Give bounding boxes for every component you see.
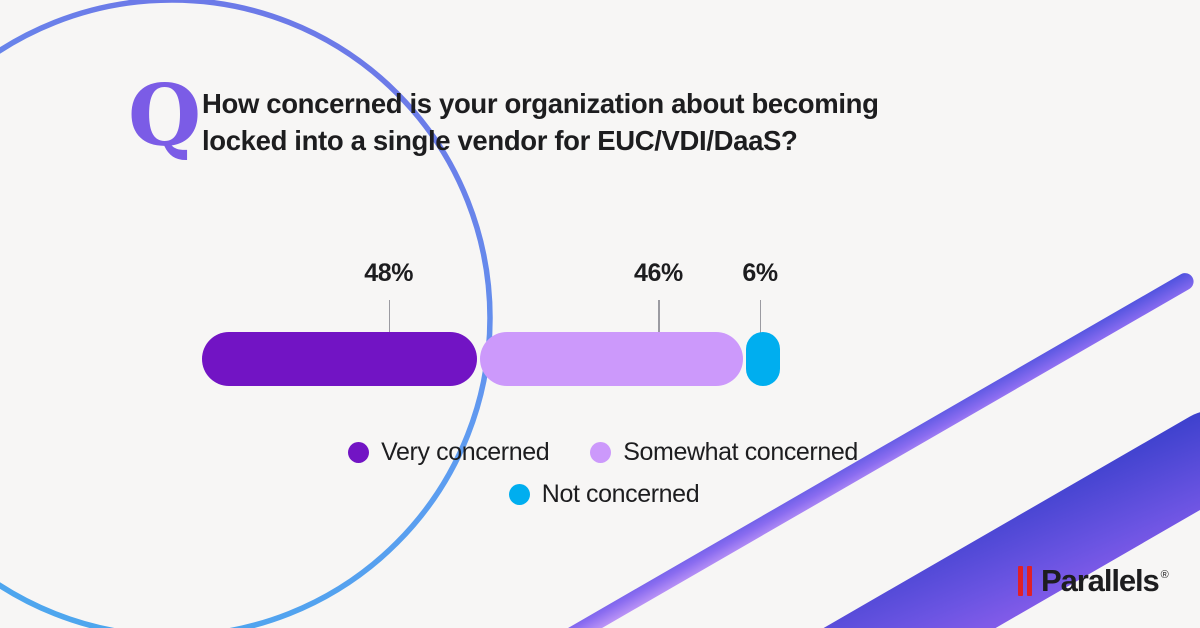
- page-title: How concerned is your organization about…: [202, 86, 879, 159]
- legend-item-not-concerned[interactable]: Not concerned: [509, 480, 699, 509]
- bar-segment-somewhat-concerned: [480, 332, 743, 386]
- question-header: Q How concerned is your organization abo…: [128, 72, 879, 159]
- registered-trademark-icon: ®: [1161, 569, 1169, 581]
- infographic-canvas: Q How concerned is your organization abo…: [0, 0, 1200, 628]
- stacked-bar-chart: [202, 332, 780, 386]
- bar-segment-not-concerned: [746, 332, 780, 386]
- value-label-very-concerned: 48%: [364, 259, 413, 288]
- logo-bars-icon: [1018, 566, 1032, 596]
- legend-item-very-concerned[interactable]: Very concerned: [348, 438, 549, 467]
- parallels-logo: Parallels ®: [1018, 563, 1169, 599]
- legend-label: Somewhat concerned: [623, 438, 858, 467]
- value-label-somewhat-concerned: 46%: [634, 259, 683, 288]
- legend-swatch-icon: [348, 442, 369, 463]
- logo-wordmark: Parallels: [1041, 563, 1159, 599]
- legend-swatch-icon: [590, 442, 611, 463]
- question-mark-letter: Q: [128, 76, 202, 156]
- legend-item-somewhat-concerned[interactable]: Somewhat concerned: [590, 438, 858, 467]
- legend-label: Very concerned: [381, 438, 549, 467]
- legend-row-secondary: Not concerned: [0, 480, 1200, 509]
- value-label-not-concerned: 6%: [742, 259, 777, 288]
- legend-swatch-icon: [509, 484, 530, 505]
- legend-row-primary: Very concerned Somewhat concerned: [0, 438, 1200, 467]
- legend-label: Not concerned: [542, 480, 699, 509]
- chart-legend: Very concerned Somewhat concerned Not co…: [0, 438, 1200, 509]
- bar-segment-very-concerned: [202, 332, 477, 386]
